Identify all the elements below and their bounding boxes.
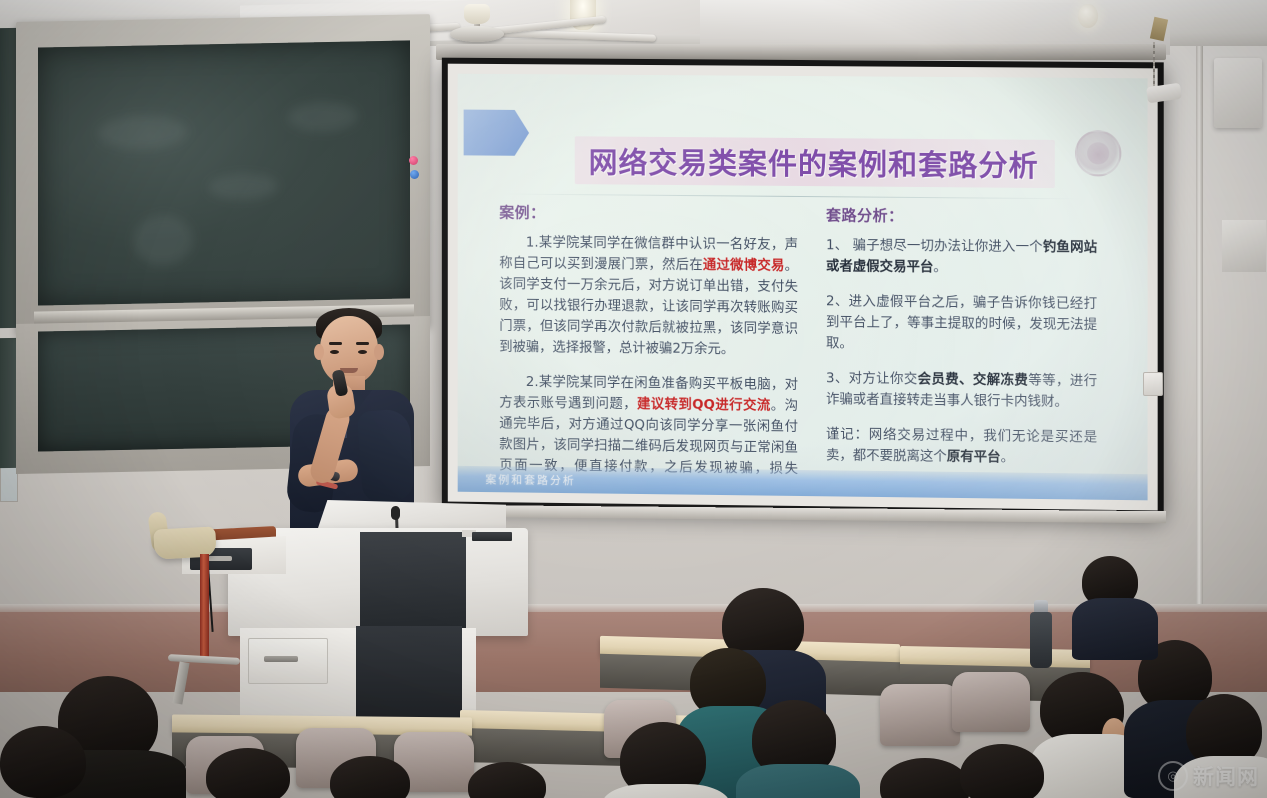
presenter-eye-left xyxy=(330,350,339,354)
console-front-panel-lower xyxy=(356,626,462,722)
left-column-heading: 案例： xyxy=(499,201,798,225)
slide-footer-text: 案例和套路分析 xyxy=(485,471,575,488)
fan-hub xyxy=(450,26,504,42)
presentation-slide: 网络交易类案件的案例和套路分析 案例： 1.某学院某同学在微信群中认识一名好友，… xyxy=(458,74,1148,501)
console-front-panel-upper xyxy=(360,532,466,628)
analysis-note: 谨记：网络交易过程中，我们无论是买还是卖，都不要脱离这个原有平台。 xyxy=(826,424,1097,469)
police-emblem-icon xyxy=(1075,130,1121,177)
console-port-strip xyxy=(472,532,512,541)
presenter-brow-right xyxy=(356,342,369,345)
presenter-ear-right xyxy=(374,344,384,360)
auditorium-chair xyxy=(880,684,960,746)
power-outlet xyxy=(1143,372,1163,396)
blackboard xyxy=(16,14,430,334)
emblem-core xyxy=(1087,142,1109,164)
analysis-1-run-3: 。 xyxy=(933,260,946,275)
analysis-item-1: 1、 骗子想尽一切办法让你进入一个钓鱼网站或者虚假交易平台。 xyxy=(826,235,1097,280)
water-bottle xyxy=(1030,612,1052,668)
lecture-hall-photo: 网络交易类案件的案例和套路分析 案例： 1.某学院某同学在微信群中认识一名好友，… xyxy=(0,0,1267,798)
slide-divider xyxy=(501,193,1081,199)
wall-conduit xyxy=(1196,46,1203,606)
analysis-item-3: 3、对方让你交会员费、交解冻费等等，进行诈骗或者直接转走当事人银行卡内钱财。 xyxy=(826,368,1097,413)
note-run-3: 。 xyxy=(1001,450,1014,465)
slide-right-column: 套路分析： 1、 骗子想尽一切办法让你进入一个钓鱼网站或者虚假交易平台。 2、进… xyxy=(826,204,1097,483)
case-2-highlight: 建议转到QQ进行交流 xyxy=(637,397,771,413)
presenter-eye-right xyxy=(358,350,367,354)
presenter-brow-left xyxy=(329,342,342,345)
console-side-drawer-handle[interactable] xyxy=(208,556,232,561)
magnet-blue xyxy=(410,170,419,179)
wall-mounted-box xyxy=(1214,58,1262,128)
ceiling-light-secondary xyxy=(1078,4,1098,28)
fan-canopy xyxy=(464,4,490,24)
screen-bezel: 网络交易类案件的案例和套路分析 案例： 1.某学院某同学在微信群中认识一名好友，… xyxy=(448,64,1158,511)
blackboard-surface xyxy=(38,40,410,305)
analysis-2-run-1: 2、进入虚假平台之后，骗子告诉你钱已经打到平台上了，等事主提取的时候，发现无法提… xyxy=(826,294,1097,351)
auditorium-chair xyxy=(952,672,1030,732)
magnet-pink xyxy=(409,156,418,165)
hanging-chain xyxy=(1153,42,1155,86)
presenter-ear-left xyxy=(314,344,324,360)
analysis-item-2: 2、进入虚假平台之后，骗子告诉你钱已经打到平台上了，等事主提取的时候，发现无法提… xyxy=(826,291,1097,357)
slide-left-column: 案例： 1.某学院某同学在微信群中认识一名好友，声称自己可以买到漫展门票，然后在… xyxy=(499,201,798,500)
note-bold: 原有平台 xyxy=(947,450,1001,466)
console-drawer-handle[interactable] xyxy=(264,656,298,662)
presenter-arm-left xyxy=(357,408,415,503)
slide-accent-hexagon-icon xyxy=(464,110,529,156)
analysis-3-bold: 会员费、交解冻费 xyxy=(918,372,1029,388)
case-1-run-3: 。该同学支付一万余元后，对方说订单出错，支付失败，可以找银行办理退款，让该同学再… xyxy=(499,259,798,357)
right-column-heading: 套路分析： xyxy=(826,204,1097,227)
analysis-1-run-1: 1、 骗子想尽一切办法让你进入一个 xyxy=(826,238,1043,255)
analysis-3-run-1: 3、对方让你交 xyxy=(826,371,918,387)
case-paragraph-1: 1.某学院某同学在微信群中认识一名好友，声称自己可以买到漫展门票，然后在通过微博… xyxy=(499,232,798,361)
case-1-highlight: 通过微博交易 xyxy=(703,258,785,274)
wall-mounted-bracket xyxy=(1222,220,1266,272)
slide-title: 网络交易类案件的案例和套路分析 xyxy=(579,137,1049,187)
stool-post xyxy=(200,554,209,662)
presenter-head xyxy=(320,316,378,384)
projection-screen: 网络交易类案件的案例和套路分析 案例： 1.某学院某同学在微信群中认识一名好友，… xyxy=(442,58,1164,517)
gooseneck-microphone-head xyxy=(391,506,400,520)
